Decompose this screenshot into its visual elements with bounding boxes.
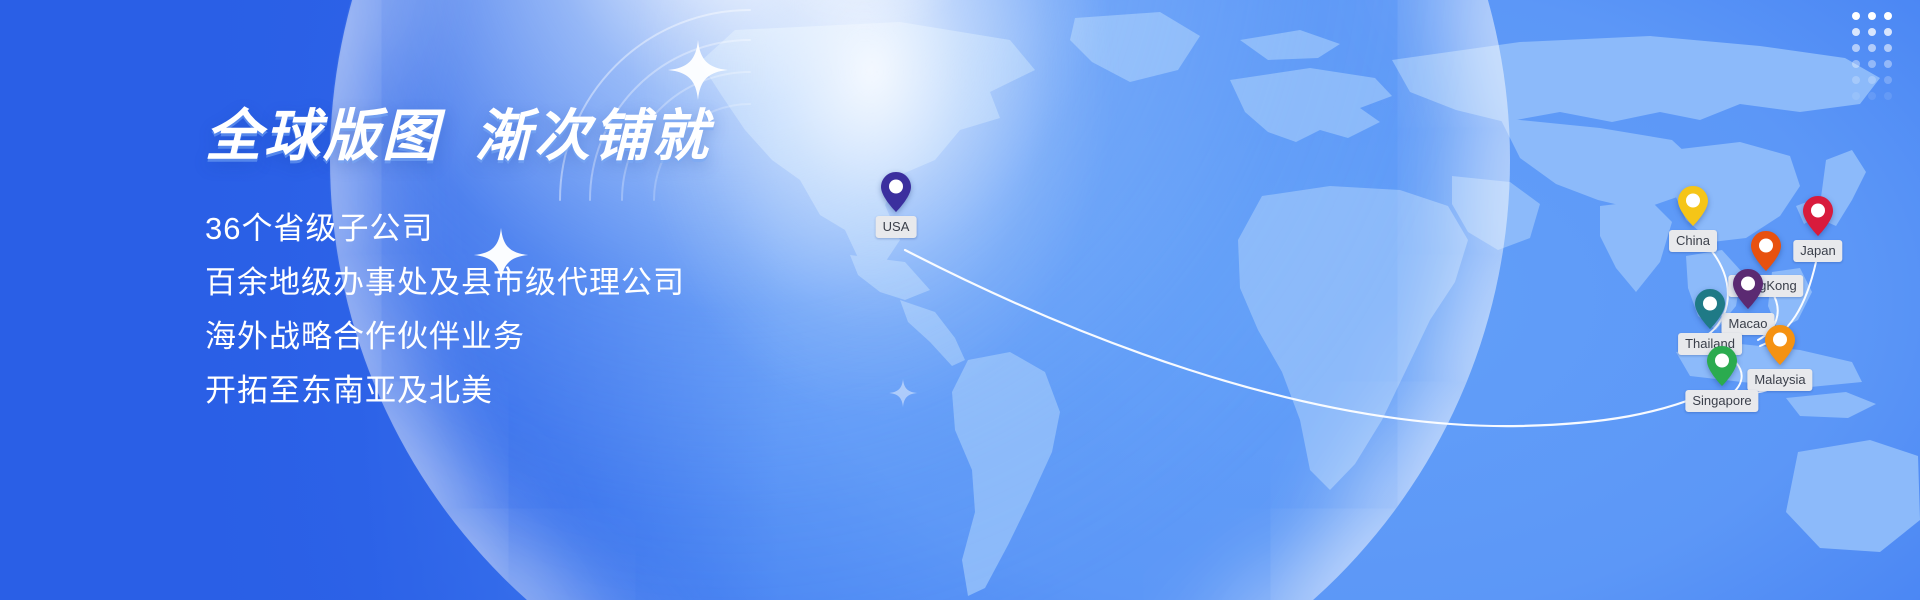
map-pin-japan[interactable]: Japan (1803, 196, 1833, 236)
map-pin-thailand[interactable]: Thailand (1695, 289, 1725, 329)
subtitle-line-2: 百余地级办事处及县市级代理公司 (205, 256, 1025, 310)
copy-block: 全球版图渐次铺就 36个省级子公司 百余地级办事处及县市级代理公司 海外战略合作… (205, 108, 1025, 418)
map-pin-label: USA (876, 216, 917, 238)
page-title: 全球版图渐次铺就 (205, 108, 1025, 164)
map-pin-macao[interactable]: Macao (1733, 269, 1763, 309)
map-pin-hongkong[interactable]: HongKong (1751, 231, 1781, 271)
global-map-banner: 全球版图渐次铺就 36个省级子公司 百余地级办事处及县市级代理公司 海外战略合作… (0, 0, 1920, 600)
map-pin-usa[interactable]: USA (881, 172, 911, 212)
map-pin-malaysia[interactable]: Malaysia (1765, 325, 1795, 365)
map-pin-label: Singapore (1685, 390, 1758, 412)
map-pin-label: Malaysia (1747, 369, 1812, 391)
map-pin-label: Japan (1793, 240, 1842, 262)
subtitle-line-3: 海外战略合作伙伴业务 (205, 310, 1025, 364)
subtitle-line-4: 开拓至东南亚及北美 (205, 364, 1025, 418)
dot-grid-decoration (1848, 8, 1896, 104)
map-pin-china[interactable]: China (1678, 186, 1708, 226)
headline-part-2: 渐次铺就 (475, 104, 711, 167)
map-pin-label: China (1669, 230, 1717, 252)
globe-cap-glow (700, 0, 1030, 50)
headline-part-1: 全球版图 (205, 104, 441, 167)
map-pin-singapore[interactable]: Singapore (1707, 346, 1737, 386)
